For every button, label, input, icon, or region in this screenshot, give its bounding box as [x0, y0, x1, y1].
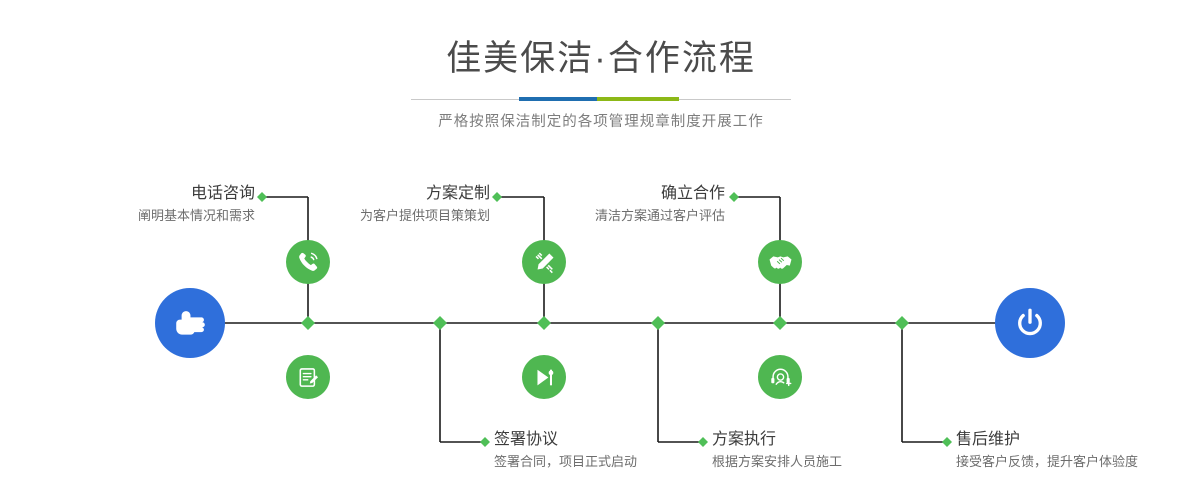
- step-desc-4: 根据方案安排人员施工: [712, 452, 842, 471]
- step-desc-3: 为客户提供项目策策划: [335, 206, 490, 225]
- headset-support-icon: [768, 365, 793, 390]
- step-desc-6: 接受客户反馈，提升客户体验度: [956, 452, 1138, 471]
- step-desc-1: 阐明基本情况和需求: [100, 206, 255, 225]
- timeline-diamond-2: [433, 316, 447, 330]
- step-text-6: 售后维护 接受客户反馈，提升客户体验度: [956, 430, 1138, 471]
- pencil-ruler-icon: [532, 250, 557, 275]
- step-icon-2[interactable]: [286, 355, 330, 399]
- label-diamond-3: [492, 192, 502, 202]
- flow-end-node[interactable]: [995, 288, 1065, 358]
- process-flow-diagram: 电话咨询 阐明基本情况和需求 签署协议 签署合同，项目正式启动 方案定制 为客户…: [0, 150, 1202, 502]
- power-icon: [1011, 304, 1049, 342]
- step-label-4: 方案执行: [712, 430, 842, 450]
- page-title: 佳美保洁·合作流程: [0, 0, 1202, 80]
- timeline-diamond-5: [773, 316, 787, 330]
- play-execute-icon: [532, 365, 557, 390]
- step-label-2: 签署协议: [494, 430, 637, 450]
- timeline-diamond-1: [301, 316, 315, 330]
- step-icon-5[interactable]: [758, 240, 802, 284]
- timeline-diamond-3: [537, 316, 551, 330]
- step-text-1: 电话咨询 阐明基本情况和需求: [100, 184, 255, 225]
- step-icon-6[interactable]: [758, 355, 802, 399]
- label-diamond-5: [729, 192, 739, 202]
- step-desc-5: 清洁方案通过客户评估: [570, 206, 725, 225]
- page-header: 佳美保洁·合作流程 严格按照保洁制定的各项管理规章制度开展工作: [0, 0, 1202, 132]
- step-label-3: 方案定制: [335, 184, 490, 204]
- step-icon-4[interactable]: [522, 355, 566, 399]
- flow-start-node[interactable]: [155, 288, 225, 358]
- step-label-6: 售后维护: [956, 430, 1138, 450]
- step-label-5: 确立合作: [570, 184, 725, 204]
- divider-segment-blue: [519, 97, 597, 101]
- label-diamond-4: [698, 437, 708, 447]
- handshake-icon: [767, 249, 794, 276]
- title-divider: [411, 97, 791, 101]
- label-diamond-6: [942, 437, 952, 447]
- hand-point-right-icon: [171, 304, 209, 342]
- step-text-2: 签署协议 签署合同，项目正式启动: [494, 430, 637, 471]
- step-icon-3[interactable]: [522, 240, 566, 284]
- document-edit-icon: [296, 365, 321, 390]
- page-subtitle: 严格按照保洁制定的各项管理规章制度开展工作: [0, 101, 1202, 132]
- phone-ring-icon: [295, 249, 321, 275]
- step-desc-2: 签署合同，项目正式启动: [494, 452, 637, 471]
- step-label-1: 电话咨询: [100, 184, 255, 204]
- divider-segment-green: [597, 97, 679, 101]
- step-text-5: 确立合作 清洁方案通过客户评估: [570, 184, 725, 225]
- timeline-diamond-4: [651, 316, 665, 330]
- step-text-4: 方案执行 根据方案安排人员施工: [712, 430, 842, 471]
- label-diamond-2: [480, 437, 490, 447]
- label-diamond-1: [257, 192, 267, 202]
- step-icon-1[interactable]: [286, 240, 330, 284]
- step-text-3: 方案定制 为客户提供项目策策划: [335, 184, 490, 225]
- label-diamond-markers: [257, 192, 952, 447]
- timeline-diamond-6: [895, 316, 909, 330]
